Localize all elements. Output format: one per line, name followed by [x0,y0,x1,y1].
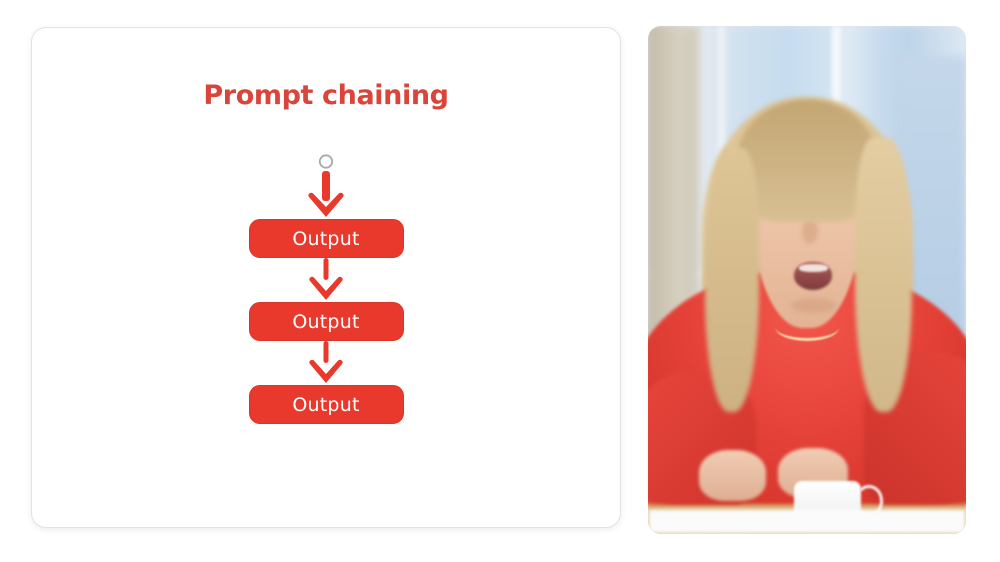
table-front-edge [648,509,966,534]
presenter-hair-strand-right [855,138,912,412]
flow-diagram: Output Output Output [32,153,620,424]
flow-node-output-3[interactable]: Output [249,385,404,424]
presenter-video-panel[interactable] [648,26,966,534]
teeth [799,264,828,272]
presenter-hair-strand-left [705,148,759,412]
slide-card: Prompt chaining Output Output [31,27,621,528]
connector-arrow-down-icon-3 [303,341,349,385]
flow-node-output-1[interactable]: Output [249,219,404,258]
flow-node-output-2[interactable]: Output [249,302,404,341]
page-title: Prompt chaining [32,80,620,111]
necklace [775,313,839,341]
presenter-hand-left [699,450,766,501]
chin-shadow [791,298,836,313]
connector-arrow-down-icon-2 [303,258,349,302]
start-node-circle-outline-icon [313,153,339,171]
connector-arrow-down-icon-1 [303,171,349,219]
